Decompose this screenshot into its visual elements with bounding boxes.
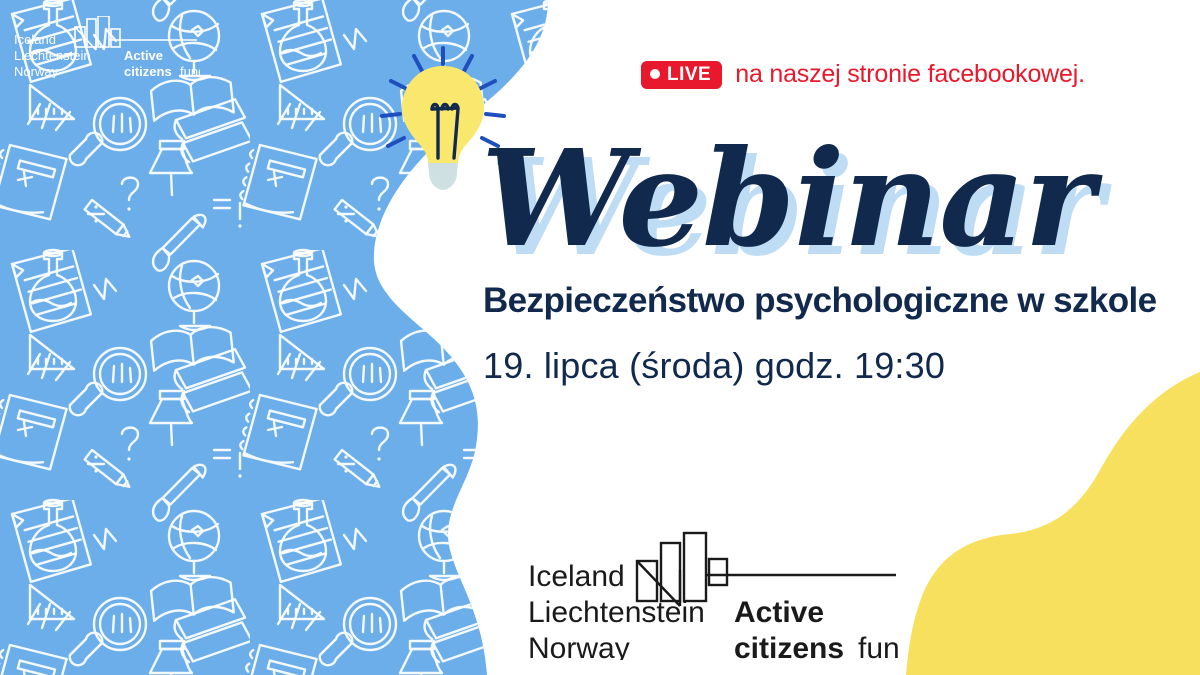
logo-fund-citizens: citizens — [734, 632, 844, 660]
logo-country-2: Liechtenstein — [528, 596, 705, 629]
live-badge-label: LIVE — [667, 65, 711, 84]
partner-logo-top: Iceland Liechtenstein Norway Active citi… — [14, 16, 200, 78]
page-title: Webinar — [481, 133, 1094, 266]
logo-country-1: Iceland — [528, 560, 625, 593]
logo-fund-citizens: citizens — [124, 64, 172, 78]
live-announcement-text: na naszej stronie facebookowej. — [735, 60, 1085, 89]
partner-logo-bottom: Iceland Liechtenstein Norway Active citi… — [528, 528, 900, 660]
logo-country-1: Iceland — [14, 32, 56, 47]
eea-grants-bars-icon — [75, 16, 197, 50]
yellow-blob — [880, 350, 1200, 675]
logo-fund-active: Active — [734, 596, 824, 629]
page-subtitle: Bezpieczeństwo psychologiczne w szkole — [483, 281, 1157, 321]
event-datetime: 19. lipca (środa) godz. 19:30 — [483, 345, 945, 387]
record-dot-icon — [650, 69, 660, 79]
logo-fund-active: Active — [124, 48, 163, 63]
live-announcement: LIVE na naszej stronie facebookowej. — [641, 60, 1085, 89]
logo-fund-fund: fund — [858, 632, 900, 660]
logo-country-2: Liechtenstein — [14, 48, 91, 63]
logo-country-3: Norway — [14, 64, 59, 78]
logo-fund-fund: fund — [180, 64, 200, 78]
webinar-poster: Iceland Liechtenstein Norway Active citi… — [0, 0, 1200, 675]
live-badge: LIVE — [641, 61, 722, 89]
logo-country-3: Norway — [528, 632, 630, 660]
